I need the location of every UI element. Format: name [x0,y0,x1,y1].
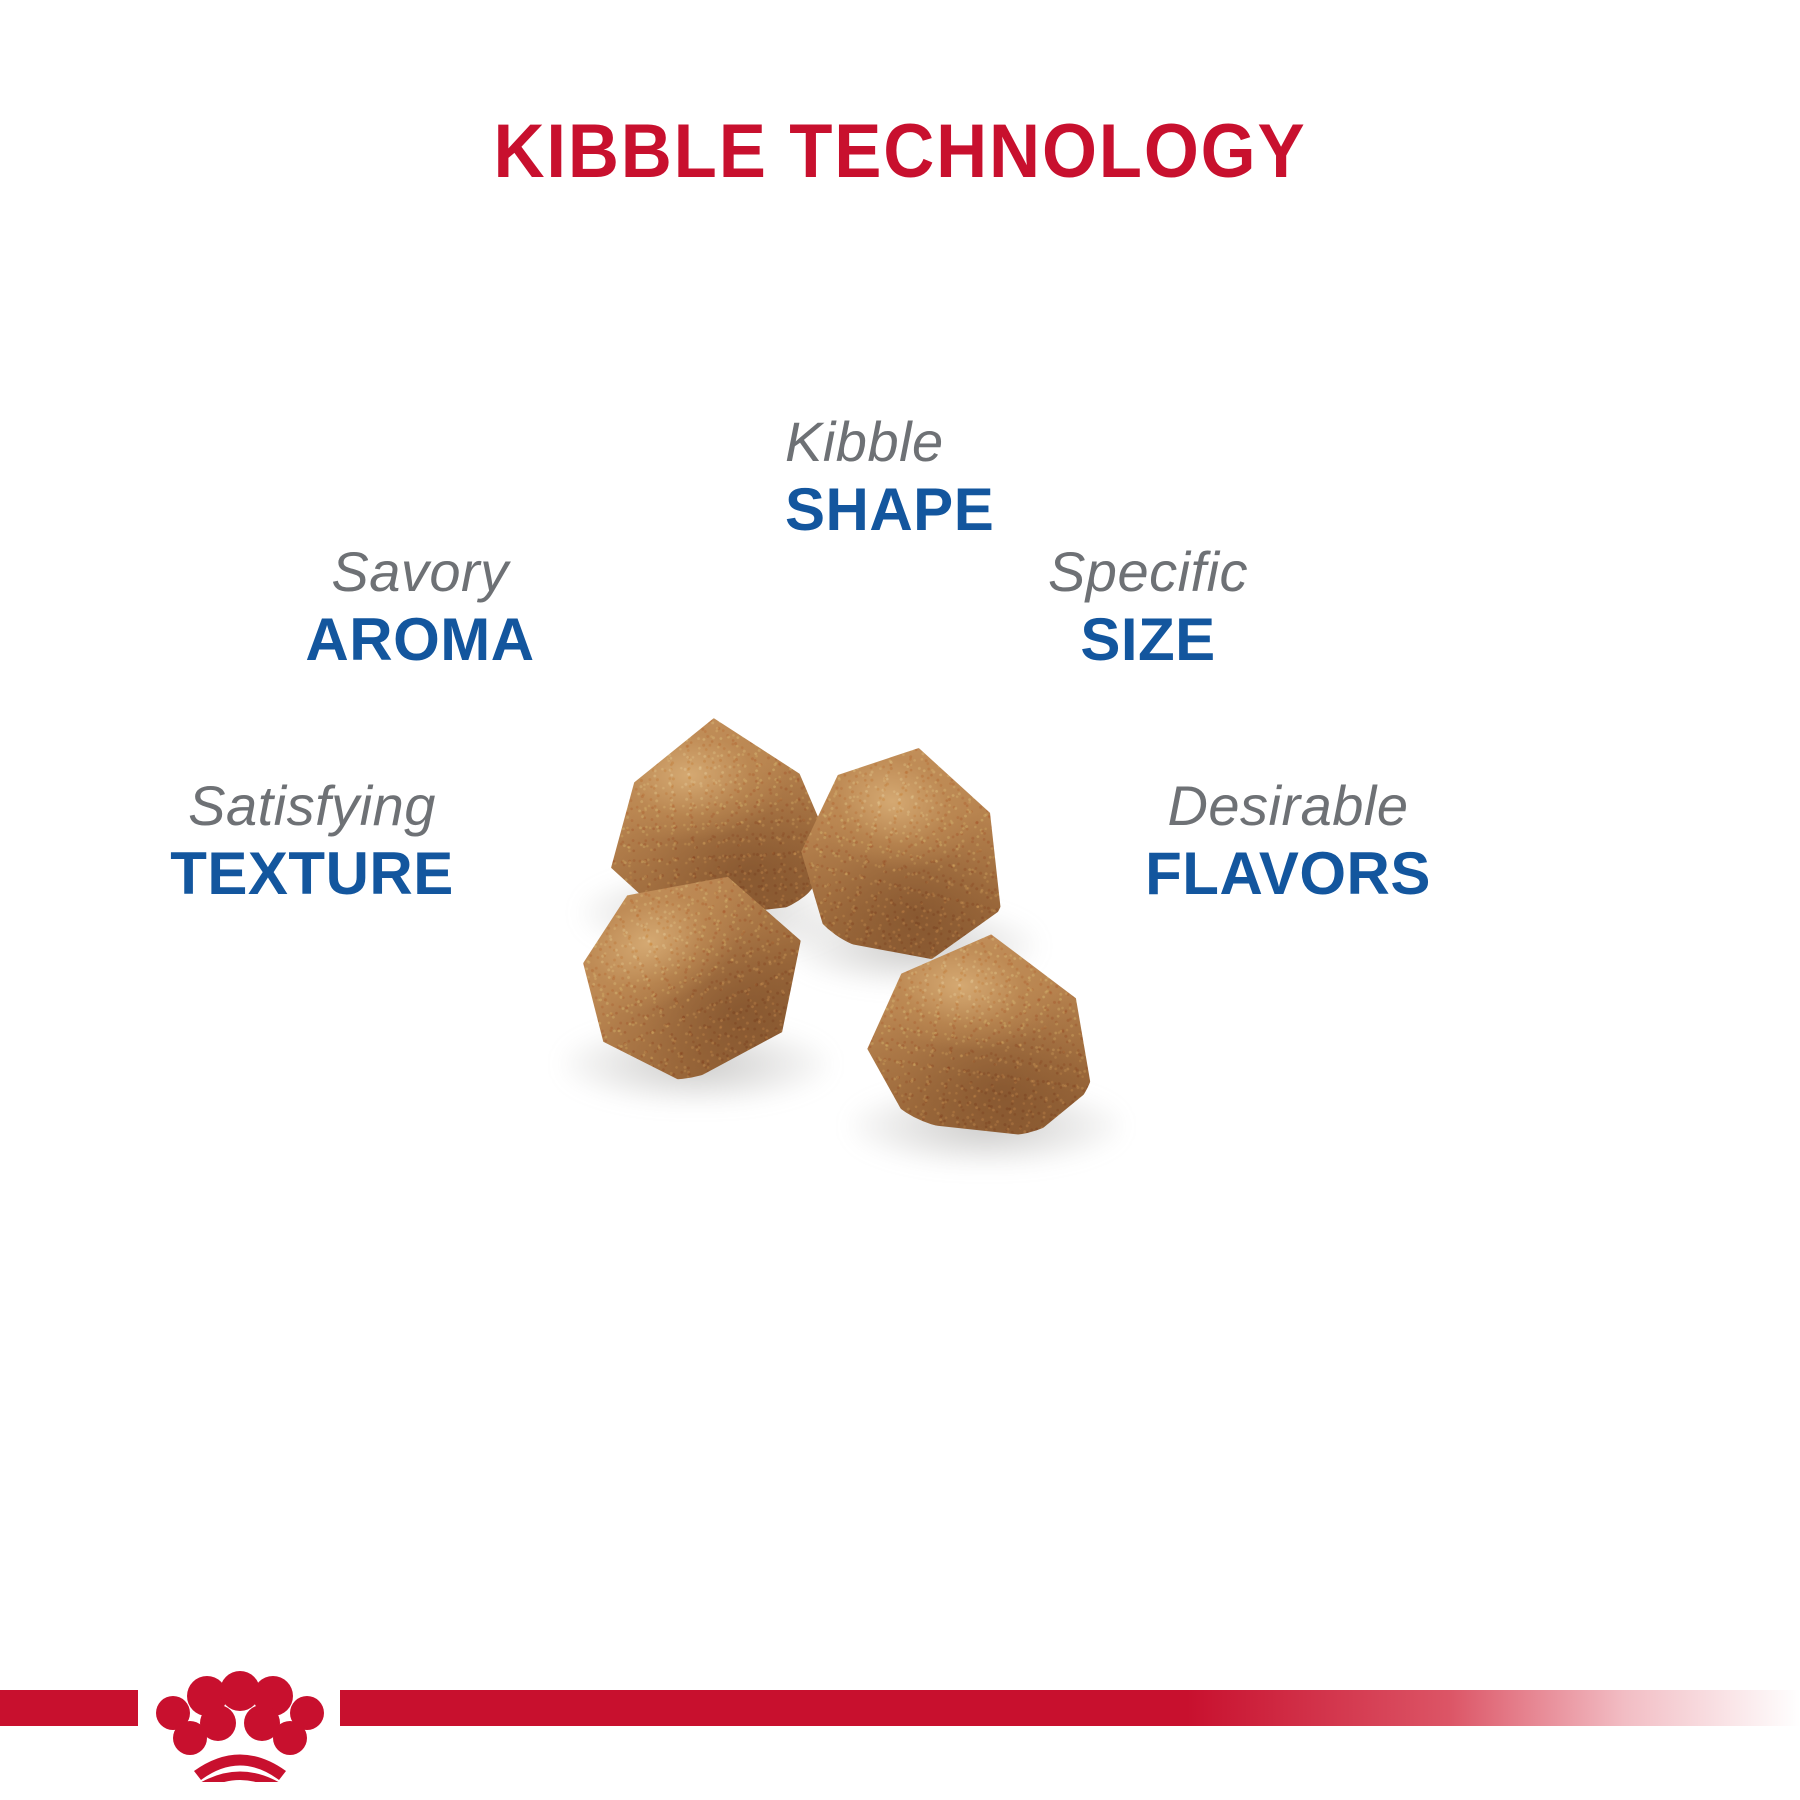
feature-label-texture: Satisfying TEXTURE [170,778,454,904]
kibble-photo [520,690,1220,1210]
feature-noun-shape: SHAPE [785,480,994,540]
feature-adjective-aroma: Savory [305,544,534,600]
feature-adjective-texture: Satisfying [170,778,454,834]
poster-canvas: KIBBLE TECHNOLOGY Kibble SHAPE Savory AR… [0,0,1800,1800]
royal-canin-crown-icon [132,1666,348,1782]
page-title: KIBBLE TECHNOLOGY [63,108,1737,195]
feature-adjective-flavors: Desirable [1145,778,1431,834]
feature-label-aroma: Savory AROMA [305,544,534,670]
feature-noun-flavors: FLAVORS [1145,844,1431,904]
feature-label-flavors: Desirable FLAVORS [1145,778,1431,904]
footer-band [0,1690,1800,1800]
footer-red-bar-left [0,1690,138,1726]
feature-noun-texture: TEXTURE [170,844,454,904]
feature-noun-aroma: AROMA [305,610,534,670]
footer-red-bar-right [340,1690,1800,1726]
feature-label-shape: Kibble SHAPE [785,414,994,540]
feature-label-size: Specific SIZE [1048,544,1248,670]
feature-adjective-size: Specific [1048,544,1248,600]
feature-adjective-shape: Kibble [785,414,994,470]
feature-noun-size: SIZE [1048,610,1248,670]
